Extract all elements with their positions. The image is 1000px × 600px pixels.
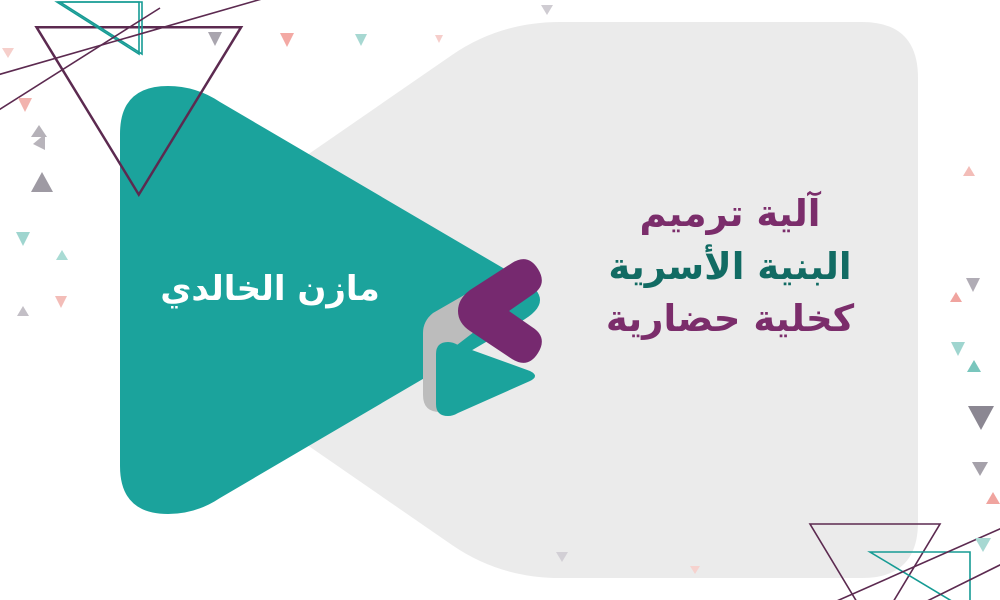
title-line-3: كخلية حضارية xyxy=(565,293,895,346)
title-line-2: البنية الأسرية xyxy=(565,241,895,294)
logo-purple-chevron-icon xyxy=(458,259,542,363)
title-line-1: آلية ترميم xyxy=(565,188,895,241)
presentation-title: آلية ترميم البنية الأسرية كخلية حضارية xyxy=(565,188,895,346)
author-name: مازن الخالدي xyxy=(120,268,420,311)
presentation-title-slide: مازن الخالدي آلية ترميم البنية الأسرية ك… xyxy=(0,0,1000,600)
